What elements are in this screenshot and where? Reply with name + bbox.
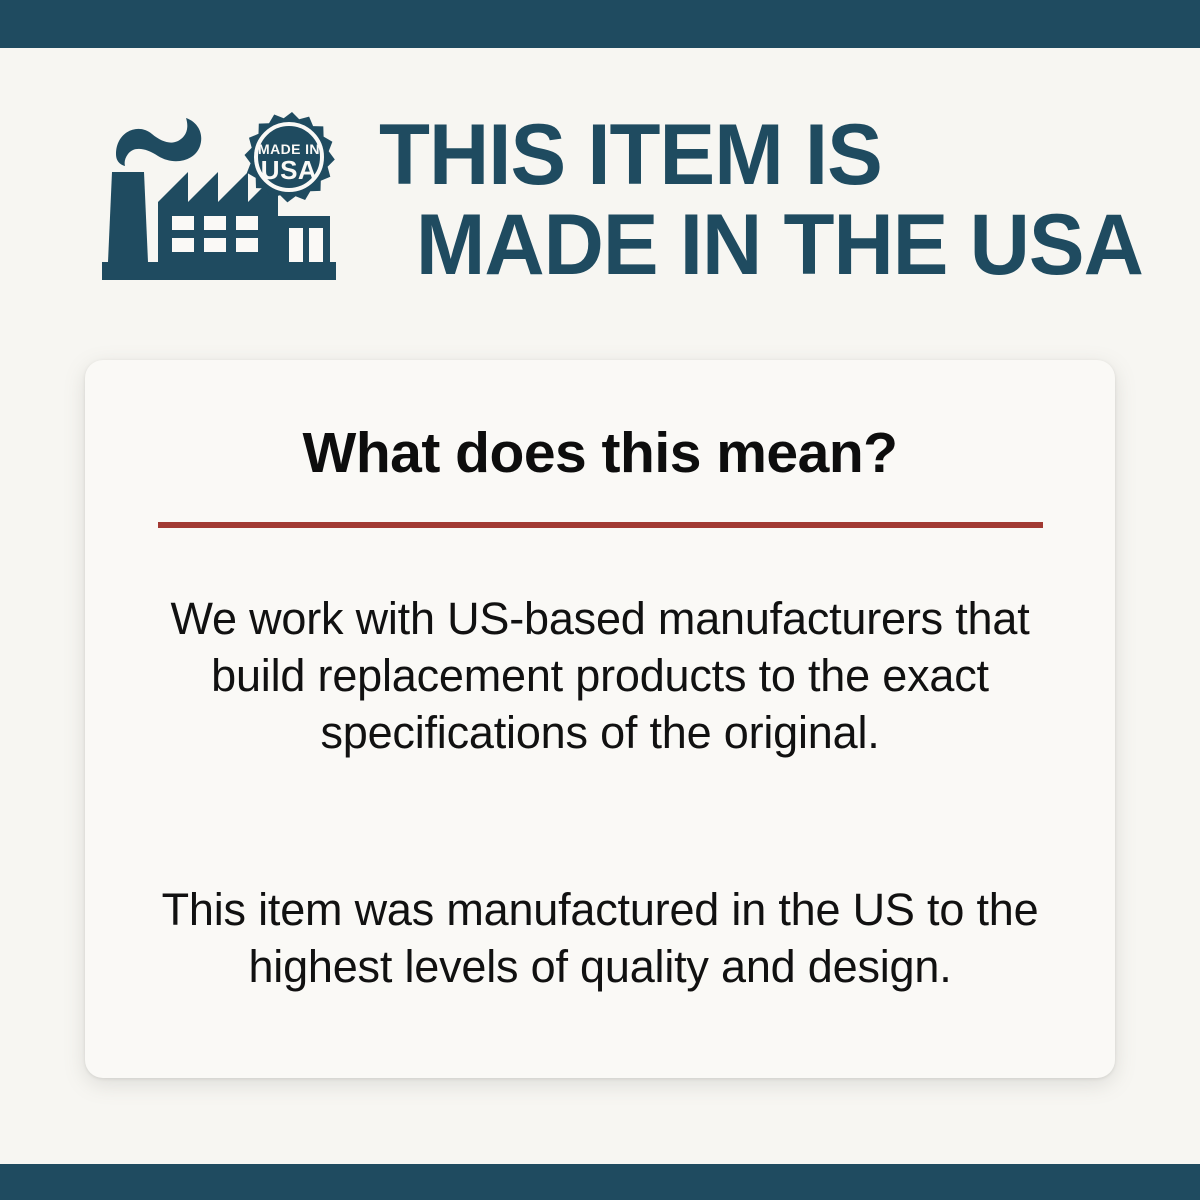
title-divider (158, 522, 1043, 528)
factory-logo: MADE IN USA (100, 106, 345, 284)
top-accent-bar (0, 0, 1200, 48)
bottom-accent-bar (0, 1164, 1200, 1200)
seal-line2: USA (261, 155, 317, 185)
header: MADE IN USA THIS ITEM IS MADE IN THE USA (0, 48, 1200, 348)
headline-line-1: THIS ITEM IS (379, 110, 1143, 200)
headline-line-2: MADE IN THE USA (416, 200, 1143, 290)
card-body: We work with US-based manufacturers that… (85, 590, 1115, 995)
card-title: What does this mean? (85, 360, 1115, 484)
factory-icon: MADE IN USA (100, 106, 345, 284)
info-card: What does this mean? We work with US-bas… (85, 360, 1115, 1078)
made-in-usa-seal-icon: MADE IN USA (245, 112, 335, 202)
card-paragraph-2: This item was manufactured in the US to … (143, 881, 1057, 995)
page-title: THIS ITEM IS MADE IN THE USA (379, 110, 1143, 290)
card-paragraph-1: We work with US-based manufacturers that… (143, 590, 1057, 761)
